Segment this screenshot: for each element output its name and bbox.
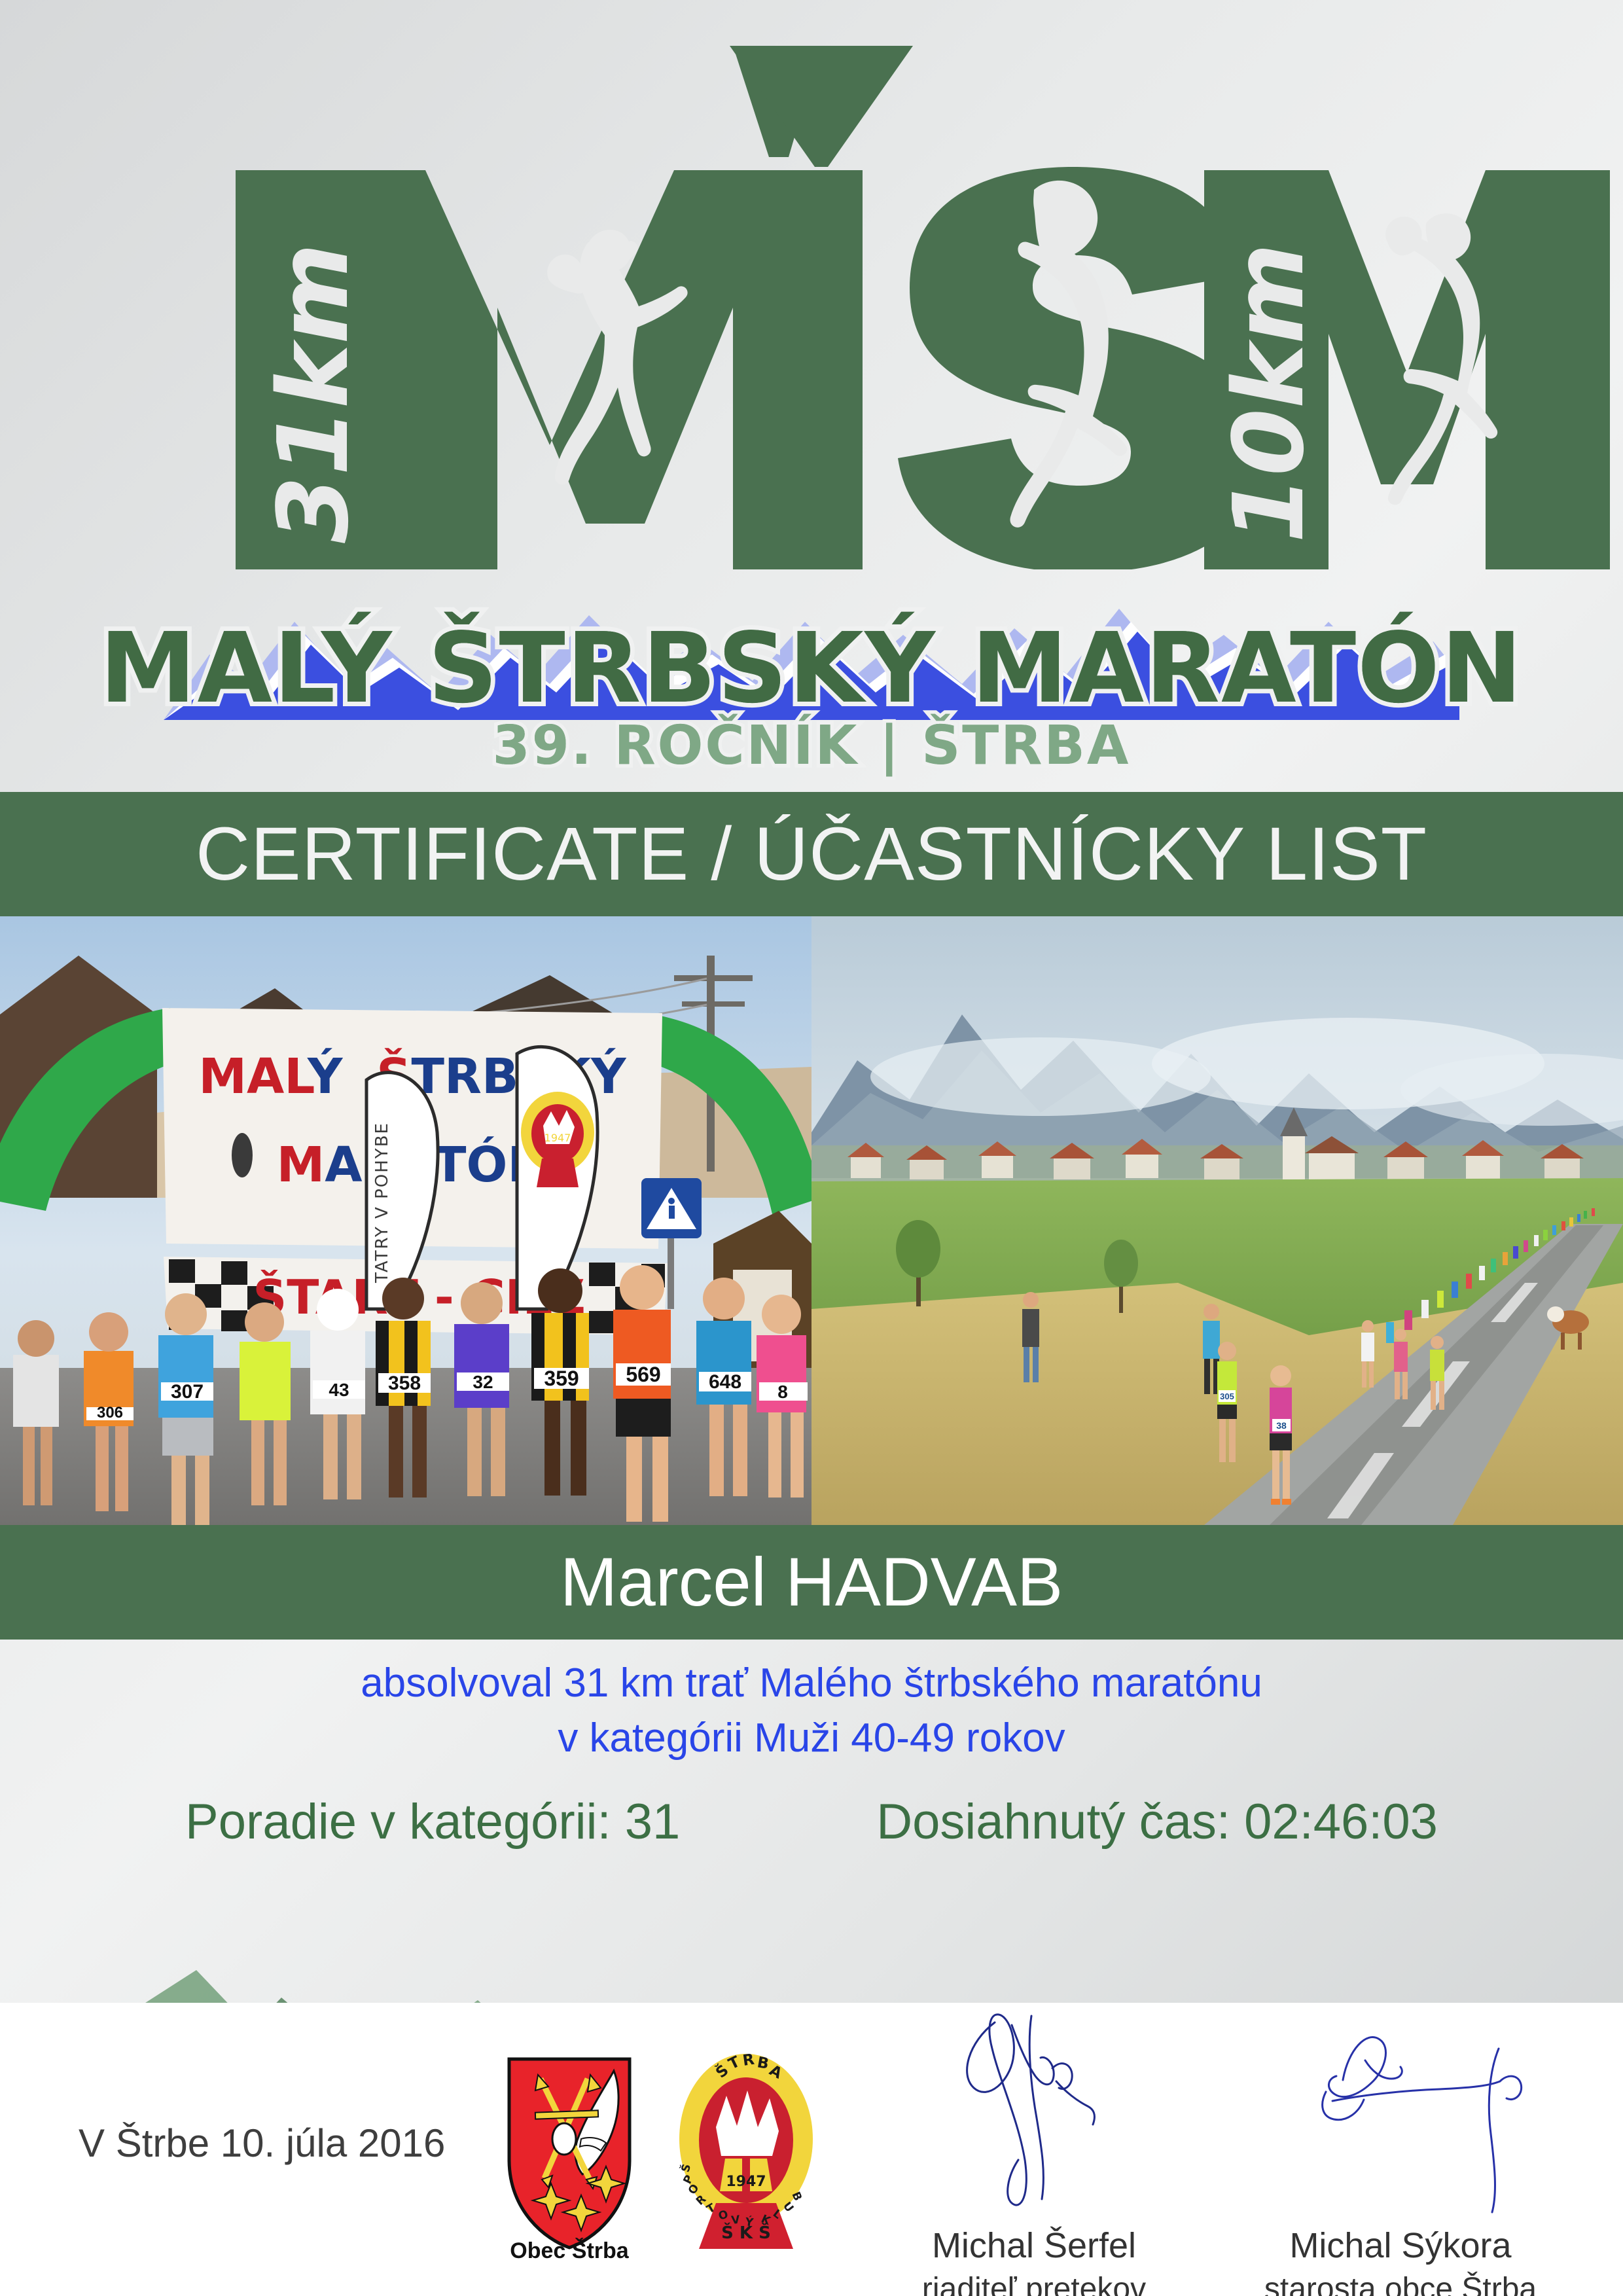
description-line-2: v kategórii Muži 40-49 rokov — [0, 1711, 1623, 1766]
finish-time: Dosiahnutý čas: 02:46:03 — [876, 1793, 1438, 1850]
results-row: Poradie v kategórii: 31 Dosiahnutý čas: … — [0, 1793, 1623, 1850]
svg-text:648: 648 — [709, 1371, 741, 1393]
signature-mark-mayor — [1243, 2003, 1558, 2225]
signatory-name-1: Michal Šerfel — [831, 2225, 1237, 2266]
msm-logo: 31km 31km 10km — [0, 26, 1623, 569]
certificate-title: CERTIFICATE / ÚČASTNÍCKY LIST — [196, 811, 1427, 897]
distance-right-label: 10km — [1213, 243, 1325, 543]
svg-text:306: 306 — [97, 1404, 123, 1422]
sks-club-crest: 1947 Š T R B A Š P O R T O V Ý K L U B Š… — [674, 2049, 818, 2251]
svg-text:32: 32 — [473, 1372, 493, 1392]
event-subtitle: 39. ROČNÍK | ŠTRBA — [0, 715, 1623, 777]
certificate-title-banner: CERTIFICATE / ÚČASTNÍCKY LIST — [0, 792, 1623, 916]
svg-text:43: 43 — [329, 1380, 349, 1400]
obec-strba-crest — [504, 2055, 635, 2251]
svg-text:TATRY V POHYBE: TATRY V POHYBE — [372, 1122, 392, 1283]
signatory-role-2: starosta obce Štrba — [1198, 2271, 1603, 2296]
signature-block-director: Michal Šerfel riaditeľ pretekov — [831, 2003, 1237, 2079]
participant-name: Marcel HADVAB — [560, 1543, 1063, 1622]
sks-year: 1947 — [726, 2174, 766, 2190]
logo-block: 31km 31km 10km MALÝ ŠTRBSKÝ MARATÓN MALÝ… — [0, 0, 1623, 792]
signature-mark-director — [897, 2003, 1171, 2225]
description-line-1: absolvoval 31 km trať Malého štrbského m… — [0, 1656, 1623, 1711]
svg-text:307: 307 — [171, 1381, 204, 1403]
svg-text:8: 8 — [777, 1382, 788, 1402]
svg-text:R: R — [741, 2051, 755, 2070]
photo-course-landscape: 305 38 — [811, 916, 1623, 1525]
photo-strip: MALÝ ŠTRBSKÝ MARATÓN — [0, 916, 1623, 1525]
svg-text:305: 305 — [1220, 1391, 1234, 1401]
photo-start-line: MALÝ ŠTRBSKÝ MARATÓN — [0, 916, 811, 1525]
distance-left-label: 31km — [257, 243, 370, 543]
sks-initials: Š K Š — [721, 2222, 771, 2243]
svg-text:1947: 1947 — [544, 1132, 571, 1144]
achievement-description: absolvoval 31 km trať Malého štrbského m… — [0, 1656, 1623, 1766]
signature-block-mayor: Michal Sýkora starosta obce Štrba — [1198, 2003, 1603, 2079]
svg-text:359: 359 — [544, 1367, 579, 1390]
svg-text:38: 38 — [1276, 1420, 1287, 1431]
msm-logo-svg: 31km 31km 10km — [0, 26, 1623, 569]
signatory-name-2: Michal Sýkora — [1198, 2225, 1603, 2266]
participant-name-banner: Marcel HADVAB — [0, 1525, 1623, 1640]
signatory-role-1: riaditeľ pretekov — [831, 2271, 1237, 2296]
certificate-page: 31km 31km 10km MALÝ ŠTRBSKÝ MARATÓN MALÝ… — [0, 0, 1623, 2296]
place-and-date: V Štrbe 10. júla 2016 — [79, 2121, 445, 2166]
crest-caption: Obec Štrba — [484, 2238, 654, 2264]
event-title: MALÝ ŠTRBSKÝ MARATÓN — [0, 612, 1623, 725]
category-rank: Poradie v kategórii: 31 — [185, 1793, 680, 1850]
svg-text:358: 358 — [388, 1372, 421, 1394]
svg-text:569: 569 — [626, 1363, 660, 1386]
